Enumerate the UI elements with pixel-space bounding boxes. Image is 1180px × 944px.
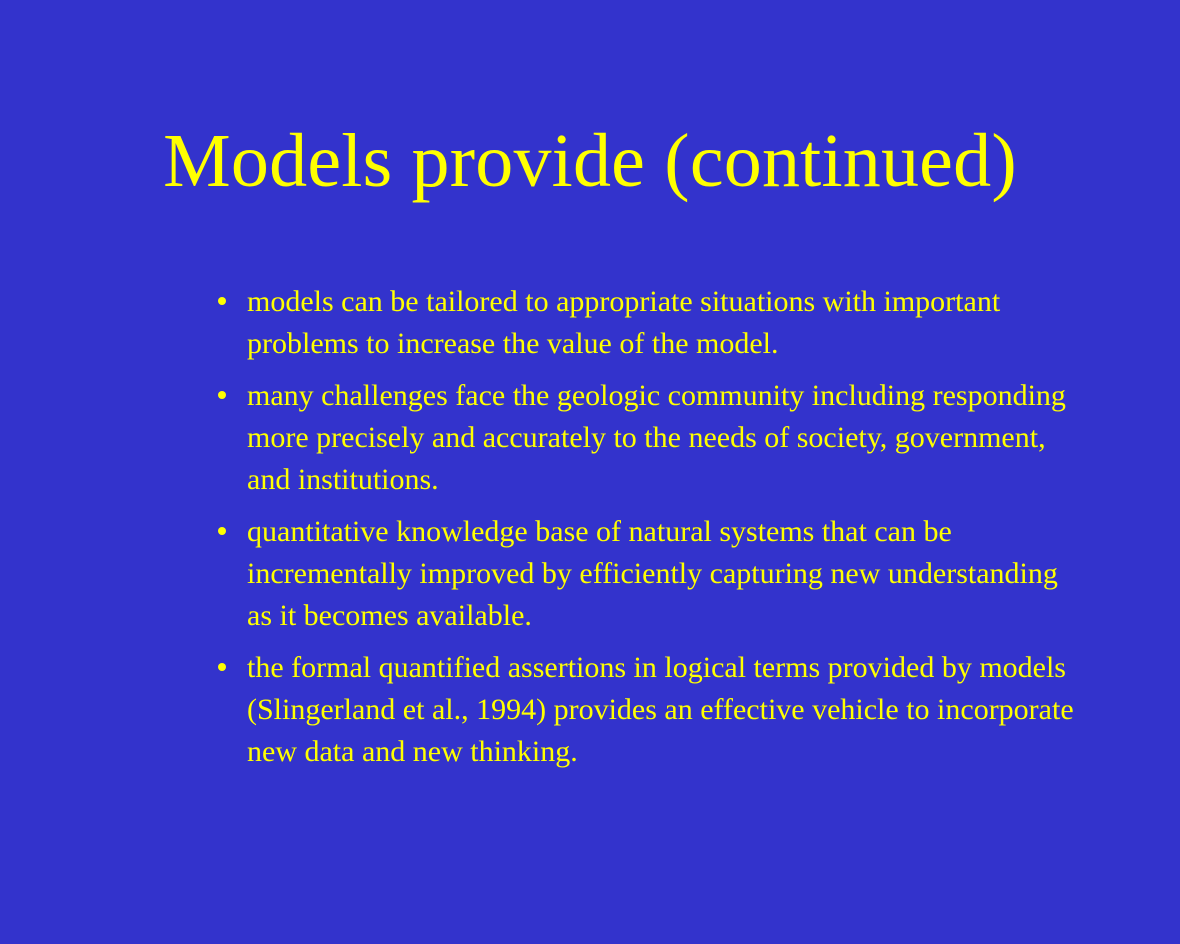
- slide-body-block: models can be tailored to appropriate si…: [214, 281, 1074, 773]
- presentation-slide: Models provide (continued) models can be…: [0, 0, 1180, 944]
- list-item: many challenges face the geologic commun…: [214, 375, 1074, 501]
- bullet-dot-icon: [218, 391, 226, 399]
- bullet-dot-icon: [218, 663, 226, 671]
- list-item-text: the formal quantified assertions in logi…: [247, 647, 1074, 773]
- bullet-dot-icon: [218, 297, 226, 305]
- list-item-text: many challenges face the geologic commun…: [247, 375, 1074, 501]
- page-title: Models provide (continued): [163, 118, 1017, 204]
- bullet-list: models can be tailored to appropriate si…: [214, 281, 1074, 773]
- slide-title-block: Models provide (continued): [0, 118, 1180, 204]
- list-item: models can be tailored to appropriate si…: [214, 281, 1074, 365]
- bullet-dot-icon: [218, 527, 226, 535]
- list-item: the formal quantified assertions in logi…: [214, 647, 1074, 773]
- list-item-text: quantitative knowledge base of natural s…: [247, 511, 1074, 637]
- list-item: quantitative knowledge base of natural s…: [214, 511, 1074, 637]
- list-item-text: models can be tailored to appropriate si…: [247, 281, 1074, 365]
